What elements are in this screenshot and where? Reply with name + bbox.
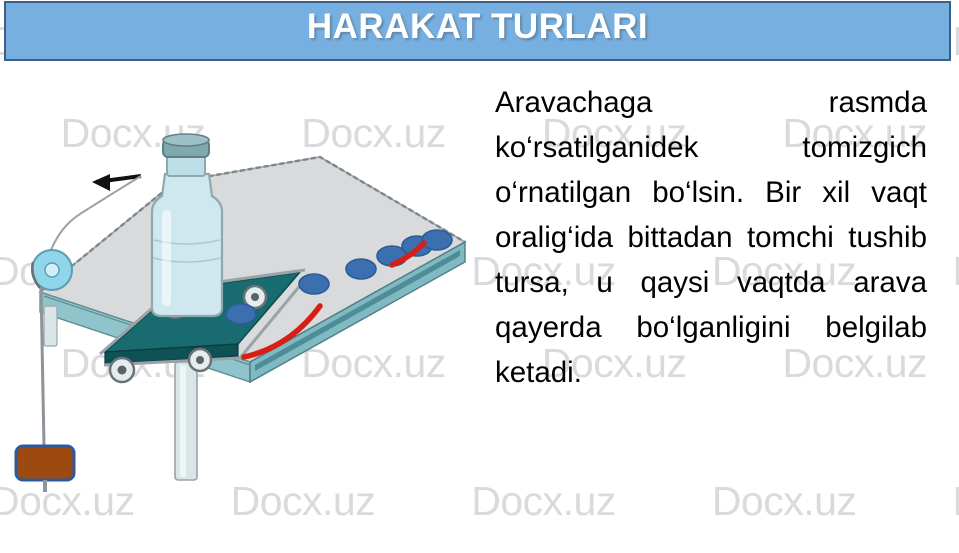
watermark-text: Docx.uz [471,478,616,525]
table-surface [40,157,465,382]
page-title: HARAKAT TURLARI [6,7,949,47]
drop [226,304,256,324]
weight-block [16,446,74,480]
slide-canvas: Docx.uz Docx.uz Docx.uz Docx.uz Docx.uz … [0,0,959,553]
drop [422,230,452,250]
dripper-bottle [152,134,222,316]
drop [299,274,329,294]
cart-wheel [110,358,134,382]
physics-illustration [0,62,480,492]
watermark-text: Docx.uz [952,248,959,295]
pulley [32,250,72,290]
body-paragraph: Aravachaga rasmda ko‘rsatilganidek tomiz… [495,80,927,440]
drop [346,259,376,279]
title-banner: HARAKAT TURLARI [4,1,951,61]
cart-wheel [189,349,211,371]
watermark-text: Docx.uz [952,478,959,525]
watermark-text: Docx.uz [712,478,857,525]
watermark-text: Docx.uz [952,18,959,65]
